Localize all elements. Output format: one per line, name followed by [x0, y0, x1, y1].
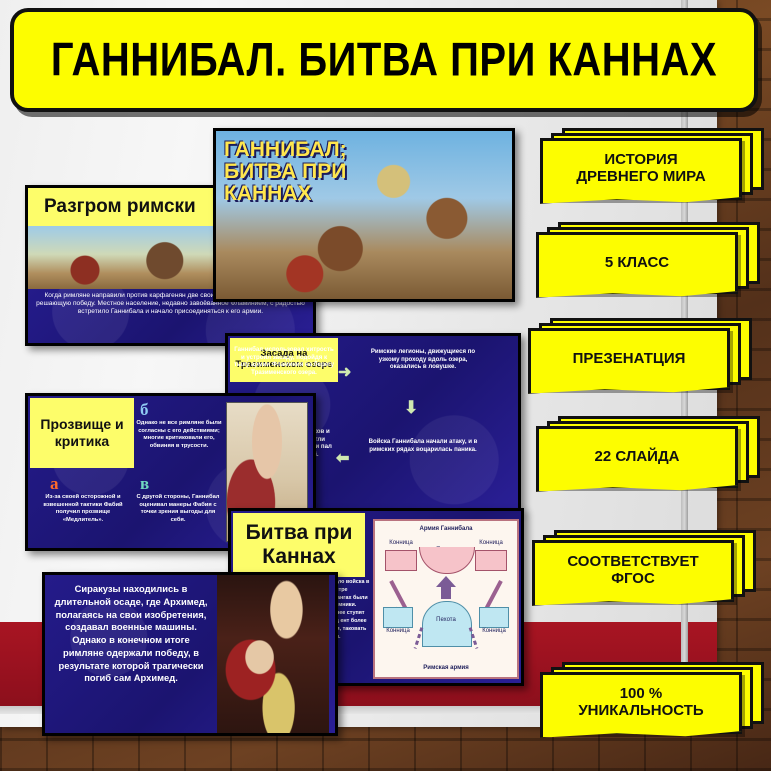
- badge-label-slide-count: 22 СЛАЙДА: [591, 449, 684, 466]
- ambush-step-3: Войска Ганнибала начали атаку, и в римск…: [368, 438, 478, 453]
- cavalry-box-top-right: [475, 550, 507, 571]
- slide-thumbnail-title[interactable]: ГАННИБАЛ; БИТВА ПРИ КАННАХ: [213, 128, 515, 302]
- badge-label-type: ПРЕЗЕНАТЦИЯ: [569, 351, 690, 368]
- poster-title-banner: ГАННИБАЛ. БИТВА ПРИ КАННАХ: [10, 8, 758, 112]
- cavalry-box-top-left: [385, 550, 417, 571]
- nickname-item-v: С другой стороны, Ганнибал оценивал мане…: [136, 494, 220, 524]
- badge-front[interactable]: 100 % УНИКАЛЬНОСТЬ: [540, 672, 742, 734]
- marker-v-letter: в: [140, 474, 149, 494]
- diagram-top-army-label: Армия Ганнибала: [375, 526, 517, 532]
- badge-label-grade: 5 КЛАСС: [601, 255, 673, 272]
- badge-grade[interactable]: 5 КЛАСС: [536, 232, 738, 294]
- arrow-right-icon: ➜: [338, 362, 351, 382]
- slide-thumbnail-archimedes[interactable]: Сиракузы находились в длительной осаде, …: [42, 572, 338, 736]
- nickname-item-b: Однако не все римляне были согласны с ег…: [136, 420, 222, 450]
- marker-a-letter: а: [50, 474, 59, 494]
- badge-label-standard: СООТВЕТСТВУЕТ ФГОС: [563, 554, 702, 588]
- badge-type[interactable]: ПРЕЗЕНАТЦИЯ: [528, 328, 730, 390]
- badge-standard[interactable]: СООТВЕТСТВУЕТ ФГОС: [532, 540, 734, 602]
- diagram-infantry-label-bottom: Пехота: [422, 617, 470, 623]
- slide-title-heading: ГАННИБАЛ; БИТВА ПРИ КАННАХ: [224, 139, 374, 205]
- diagram-bottom-army-label: Римская армия: [375, 665, 517, 671]
- roman-infantry-dome: [422, 601, 472, 647]
- poster-canvas: ГАННИБАЛ. БИТВА ПРИ КАННАХ Разгром римск…: [0, 0, 771, 771]
- diagram-cavalry-label-tr: Конница: [471, 540, 511, 546]
- carthage-infantry-arc: [419, 547, 475, 574]
- diagram-cavalry-label-bl: Конница: [377, 628, 419, 634]
- arrow-down-icon: ⬇: [404, 398, 418, 418]
- badge-uniqueness[interactable]: 100 % УНИКАЛЬНОСТЬ: [540, 672, 742, 734]
- nickname-item-a: Из-за своей осторожной и взвешенной такт…: [36, 494, 130, 524]
- badge-label-uniqueness: 100 % УНИКАЛЬНОСТЬ: [574, 686, 707, 720]
- badge-subject[interactable]: ИСТОРИЯ ДРЕВНЕГО МИРА: [540, 138, 742, 200]
- badge-front[interactable]: 22 СЛАЙДА: [536, 426, 738, 488]
- ambush-step-1: Ганнибал использовал хитрость и устроил …: [234, 346, 334, 376]
- slide-archimedes-text: Сиракузы находились в длительной осаде, …: [45, 575, 217, 733]
- center-arrowhead-up: [436, 576, 456, 587]
- archimedes-artwork: [217, 575, 329, 733]
- slide-cannae-heading: Битва при Каннах: [233, 513, 365, 577]
- cavalry-box-bottom-right: [479, 607, 509, 628]
- ambush-step-2: Римские легионы, движущиеся по узкому пр…: [368, 348, 478, 371]
- cannae-battle-diagram: Армия Ганнибала Конница Конница Пехота П…: [373, 519, 519, 679]
- badge-front[interactable]: СООТВЕТСТВУЕТ ФГОС: [532, 540, 734, 602]
- slide-nickname-heading: Прозвище и критика: [30, 398, 134, 468]
- marker-b-letter: б: [140, 400, 149, 420]
- badge-label-subject: ИСТОРИЯ ДРЕВНЕГО МИРА: [572, 152, 709, 186]
- diagram-cavalry-label-tl: Конница: [381, 540, 421, 546]
- center-arrow-shaft: [441, 585, 451, 599]
- diagram-cavalry-label-br: Конница: [473, 628, 515, 634]
- cavalry-box-bottom-left: [383, 607, 413, 628]
- badge-slide-count[interactable]: 22 СЛАЙДА: [536, 426, 738, 488]
- badge-front[interactable]: ИСТОРИЯ ДРЕВНЕГО МИРА: [540, 138, 742, 200]
- badge-front[interactable]: 5 КЛАСС: [536, 232, 738, 294]
- page-title: ГАННИБАЛ. БИТВА ПРИ КАННАХ: [51, 33, 717, 86]
- arrow-left-icon: ⬅: [336, 448, 349, 468]
- badge-front[interactable]: ПРЕЗЕНАТЦИЯ: [528, 328, 730, 390]
